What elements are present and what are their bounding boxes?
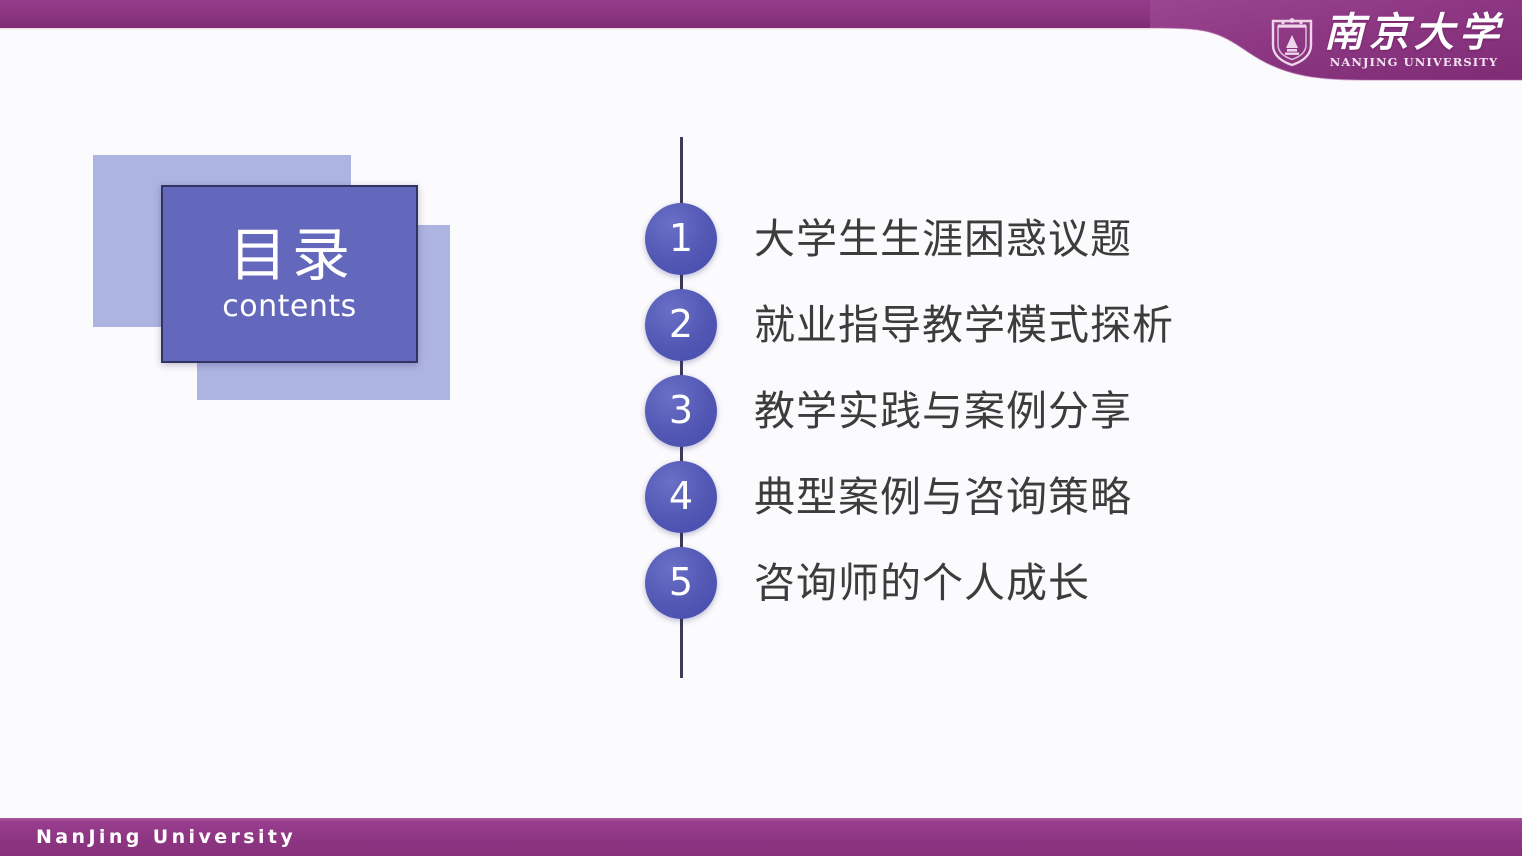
agenda-number-5: 5: [669, 563, 693, 604]
agenda-item-3[interactable]: 3 教学实践与案例分享: [645, 368, 1285, 454]
footer-university-name: NanJing University: [36, 826, 296, 848]
slide-footer: NanJing University: [0, 818, 1522, 856]
agenda-label-4: 典型案例与咨询策略: [754, 477, 1132, 518]
agenda-number-2: 2: [669, 305, 693, 346]
university-logo: 南京大学 NANJING UNIVERSITY: [1270, 8, 1504, 74]
agenda-bullet-4[interactable]: 4: [645, 461, 717, 533]
agenda-label-2: 就业指导教学模式探析: [754, 305, 1174, 346]
contents-card-front: 目录 contents: [161, 185, 418, 363]
contents-title-english: contents: [222, 292, 357, 322]
contents-title-chinese: 目录: [224, 226, 355, 285]
logo-english-name: NANJING UNIVERSITY: [1330, 57, 1499, 69]
agenda-item-4[interactable]: 4 典型案例与咨询策略: [645, 454, 1285, 540]
agenda-item-2[interactable]: 2 就业指导教学模式探析: [645, 282, 1285, 368]
agenda-label-5: 咨询师的个人成长: [754, 563, 1090, 604]
contents-card-stack: 目录 contents: [93, 155, 463, 400]
agenda-bullet-1[interactable]: 1: [645, 203, 717, 275]
agenda-item-1[interactable]: 1 大学生生涯困惑议题: [645, 196, 1285, 282]
agenda-timeline: 1 大学生生涯困惑议题 2 就业指导教学模式探析 3 教学实践与案例分享 4: [645, 137, 1285, 682]
agenda-bullet-3[interactable]: 3: [645, 375, 717, 447]
slide-header: 南京大学 NANJING UNIVERSITY: [0, 0, 1522, 95]
agenda-number-4: 4: [669, 477, 693, 518]
presentation-slide: 南京大学 NANJING UNIVERSITY 目录 contents 1 大学…: [0, 0, 1522, 856]
agenda-item-5[interactable]: 5 咨询师的个人成长: [645, 540, 1285, 626]
header-purple-banner: [0, 0, 1522, 95]
agenda-label-3: 教学实践与案例分享: [754, 391, 1132, 432]
agenda-number-1: 1: [669, 219, 693, 260]
crest-shield-icon: [1270, 15, 1314, 67]
agenda-bullet-2[interactable]: 2: [645, 289, 717, 361]
agenda-number-3: 3: [669, 391, 693, 432]
agenda-label-1: 大学生生涯困惑议题: [754, 219, 1132, 260]
agenda-bullet-5[interactable]: 5: [645, 547, 717, 619]
logo-chinese-name: 南京大学: [1324, 13, 1504, 53]
agenda-item-list: 1 大学生生涯困惑议题 2 就业指导教学模式探析 3 教学实践与案例分享 4: [645, 196, 1285, 626]
